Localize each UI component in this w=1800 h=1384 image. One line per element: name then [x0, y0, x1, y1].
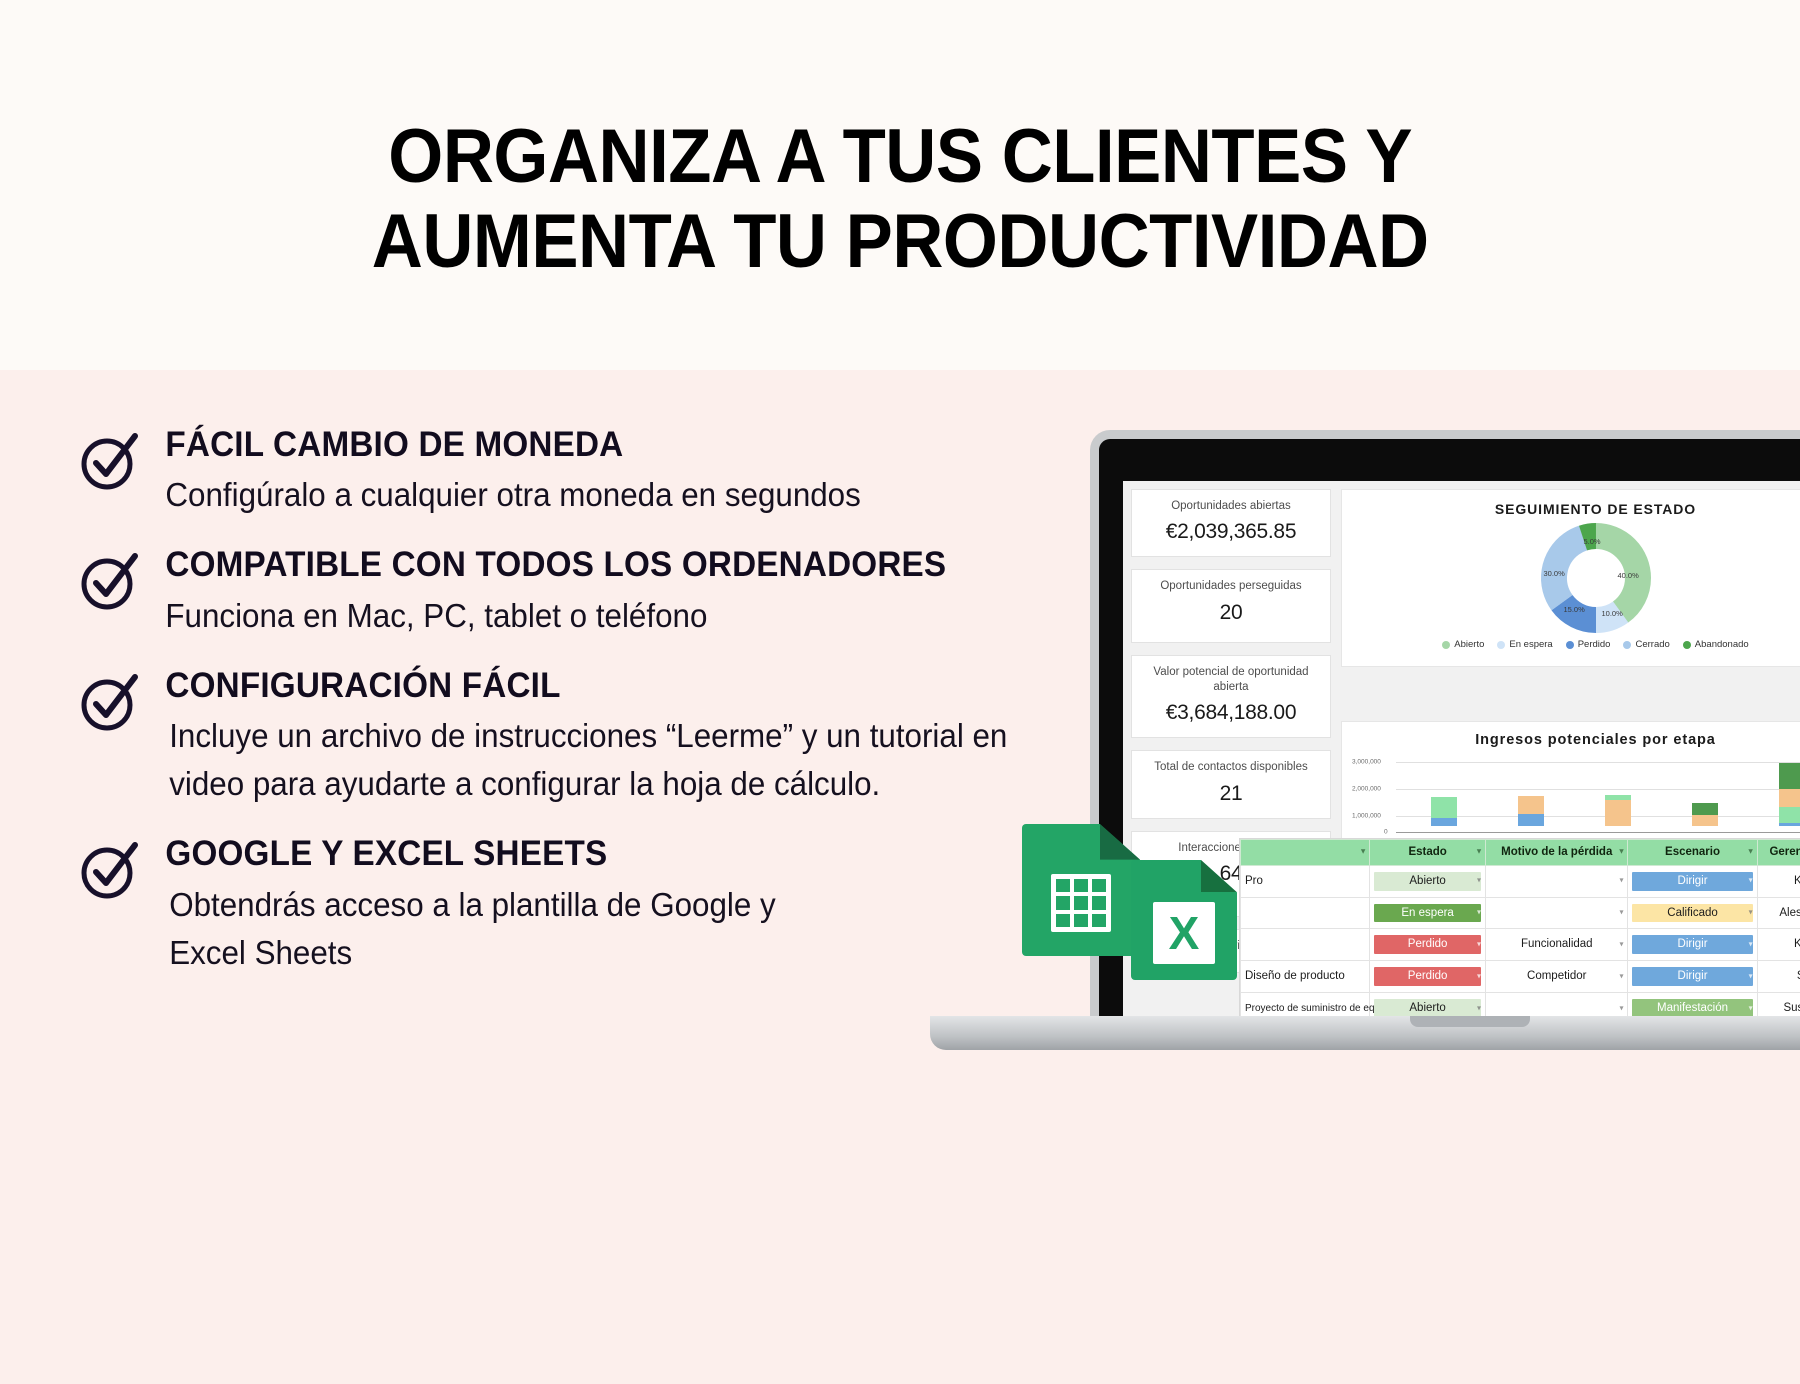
axis-line [1396, 832, 1800, 833]
dropdown-arrow-icon[interactable]: ▾ [1749, 908, 1753, 917]
kpi-value: €3,684,188.00 [1138, 701, 1324, 725]
donut-chart: 40.0% 10.0% 15.0% 30.0% 5.0% [1530, 519, 1662, 637]
laptop-notch [1410, 1016, 1530, 1027]
feature-title: CONFIGURACIÓN FÁCIL [78, 666, 1038, 706]
header-band: ORGANIZA A TUS CLIENTES Y AUMENTA TU PRO… [0, 0, 1800, 370]
donut-legend: Abierto En espera Perdido Cerrado Abando… [1348, 639, 1800, 650]
page-title-line-1: ORGANIZA A TUS CLIENTES Y [372, 114, 1429, 199]
kpi-label: Valor potencial de oportunidad abierta [1138, 665, 1324, 694]
scenario-badge: Calificado [1632, 904, 1752, 923]
dropdown-arrow-icon[interactable]: ▾ [1477, 1004, 1481, 1013]
cell-gerente[interactable]: Alessia Mccarthy [1757, 897, 1800, 929]
dropdown-arrow-icon[interactable]: ▾ [1619, 940, 1623, 949]
feature-description: Funciona en Mac, PC, tablet o teléfono [78, 592, 1038, 640]
feature-item-compatibility: COMPATIBLE CON TODOS LOS ORDENADORES Fun… [78, 545, 1088, 639]
table-row[interactable]: En espera▾ ▾ Calificado▾ Alessia Mccarth… [1241, 897, 1800, 929]
sheets-grid-icon [1022, 866, 1140, 940]
cell-motivo[interactable]: Funcionalidad▾ [1486, 929, 1628, 961]
legend-swatch [1442, 641, 1450, 649]
legend-label: Abierto [1454, 639, 1484, 650]
excel-badge[interactable]: X [1131, 860, 1237, 980]
kpi-card-open-opportunities: Oportunidades abiertas €2,039,365.85 [1131, 489, 1331, 557]
cell-escenario[interactable]: Dirigir▾ [1628, 929, 1757, 961]
page-title-line-2: AUMENTA TU PRODUCTIVIDAD [372, 199, 1429, 284]
kpi-value: 21 [1138, 782, 1324, 806]
legend-item-en-espera: En espera [1497, 639, 1552, 650]
table-header-row: .▾ Estado▾ Motivo de la pérdida▾ Escenar… [1241, 839, 1800, 865]
filter-icon[interactable]: ▾ [1619, 848, 1623, 857]
bar-segment-blue [1431, 818, 1457, 826]
column-label: Motivo de la pérdida [1501, 846, 1612, 858]
google-sheets-badge[interactable] [1022, 824, 1140, 956]
column-header-gerente[interactable]: Gerente de cuentas▾ [1757, 839, 1800, 865]
dropdown-arrow-icon[interactable]: ▾ [1619, 972, 1623, 981]
kpi-card-open-opportunity-value: Valor potencial de oportunidad abierta €… [1131, 655, 1331, 738]
excel-letter: X [1169, 910, 1200, 956]
feature-description: Obtendrás acceso a la plantilla de Googl… [78, 881, 777, 977]
table-row[interactable]: Diseño de producto Perdido▾ Competidor▾ … [1241, 961, 1800, 993]
dropdown-arrow-icon[interactable]: ▾ [1749, 940, 1753, 949]
status-tracking-chart: SEGUIMIENTO DE ESTADO [1341, 489, 1800, 667]
status-badge: En espera [1374, 904, 1481, 923]
filter-icon[interactable]: ▾ [1361, 848, 1365, 857]
cell-escenario[interactable]: Dirigir▾ [1628, 865, 1757, 897]
cell-motivo[interactable]: ▾ [1486, 897, 1628, 929]
dropdown-arrow-icon[interactable]: ▾ [1477, 877, 1481, 886]
bar-segment-orange [1605, 800, 1631, 826]
column-header-escenario[interactable]: Escenario▾ [1628, 839, 1757, 865]
legend-item-perdido: Perdido [1566, 639, 1611, 650]
bar-segment-orange [1518, 796, 1544, 814]
bar-plot: 3,000,000 2,000,000 1,000,000 0 [1352, 756, 1800, 848]
kpi-card-total-contacts: Total de contactos disponibles 21 [1131, 750, 1331, 818]
legend-label: Cerrado [1635, 639, 1669, 650]
feature-item-currency: FÁCIL CAMBIO DE MONEDA Configúralo a cua… [78, 425, 1088, 519]
bar-column [1692, 803, 1718, 826]
status-badge: Abierto [1374, 872, 1481, 891]
dropdown-arrow-icon[interactable]: ▾ [1619, 908, 1623, 917]
filter-icon[interactable]: ▾ [1477, 848, 1481, 857]
dropdown-arrow-icon[interactable]: ▾ [1477, 940, 1481, 949]
bar-segment-orange [1692, 815, 1718, 826]
kpi-label: Oportunidades perseguidas [1138, 579, 1324, 593]
chart-gap [1341, 679, 1800, 709]
feature-item-google-excel: GOOGLE Y EXCEL SHEETS Obtendrás acceso a… [78, 834, 1088, 977]
filter-icon[interactable]: ▾ [1749, 848, 1753, 857]
bar-segment-orange [1779, 789, 1800, 807]
legend-swatch [1566, 641, 1574, 649]
legend-item-cerrado: Cerrado [1623, 639, 1669, 650]
dropdown-arrow-icon[interactable]: ▾ [1749, 1004, 1753, 1013]
cell-estado[interactable]: Abierto▾ [1370, 865, 1486, 897]
chart-title: Ingresos potenciales por etapa [1348, 732, 1800, 748]
cell-name[interactable] [1241, 929, 1370, 961]
bar-segment-light-green [1779, 807, 1800, 823]
legend-label: En espera [1509, 639, 1552, 650]
donut-value-cerrado: 30.0% [1544, 569, 1565, 578]
column-label: Estado [1408, 846, 1446, 858]
excel-fold [1201, 860, 1237, 892]
status-badge: Perdido [1374, 967, 1481, 986]
column-label: Gerente de cuentas [1769, 846, 1800, 858]
cell-name[interactable]: Diseño de producto [1241, 961, 1370, 993]
donut-value-en-espera: 10.0% [1602, 609, 1623, 618]
status-badge: Perdido [1374, 935, 1481, 954]
legend-label: Abandonado [1695, 639, 1749, 650]
kpi-label: Oportunidades abiertas [1138, 499, 1324, 513]
column-header-name[interactable]: .▾ [1241, 839, 1370, 865]
dropdown-arrow-icon[interactable]: ▾ [1477, 908, 1481, 917]
bar-column [1605, 795, 1631, 826]
bar-column [1518, 796, 1544, 826]
column-header-motivo[interactable]: Motivo de la pérdida▾ [1486, 839, 1628, 865]
y-tick-3: 3,000,000 [1352, 759, 1381, 766]
legend-swatch [1623, 641, 1631, 649]
donut-value-abierto: 40.0% [1618, 571, 1639, 580]
dropdown-arrow-icon[interactable]: ▾ [1749, 972, 1753, 981]
dropdown-arrow-icon[interactable]: ▾ [1619, 1004, 1623, 1013]
dropdown-arrow-icon[interactable]: ▾ [1749, 877, 1753, 886]
donut-value-perdido: 15.0% [1564, 605, 1585, 614]
cell-estado[interactable]: Perdido▾ [1370, 961, 1486, 993]
opportunities-table[interactable]: .▾ Estado▾ Motivo de la pérdida▾ Escenar… [1239, 838, 1800, 1020]
cell-estado[interactable]: En espera▾ [1370, 897, 1486, 929]
kpi-label: Total de contactos disponibles [1138, 760, 1324, 774]
scenario-badge: Dirigir [1632, 935, 1752, 954]
feature-item-setup: CONFIGURACIÓN FÁCIL Incluye un archivo d… [78, 666, 1088, 809]
feature-list: FÁCIL CAMBIO DE MONEDA Configúralo a cua… [78, 425, 1088, 1003]
cell-gerente[interactable]: Kiran Short [1757, 929, 1800, 961]
donut-value-abandonado: 5.0% [1584, 537, 1601, 546]
bar-group [1400, 756, 1800, 826]
dropdown-arrow-icon[interactable]: ▾ [1477, 972, 1481, 981]
cell-gerente[interactable]: Saúl Lang [1757, 961, 1800, 993]
page-title: ORGANIZA A TUS CLIENTES Y AUMENTA TU PRO… [372, 114, 1429, 284]
kpi-value: 20 [1138, 601, 1324, 625]
chart-title: SEGUIMIENTO DE ESTADO [1348, 501, 1800, 517]
dropdown-arrow-icon[interactable]: ▾ [1619, 877, 1623, 886]
cell-gerente[interactable]: Kiran Short [1757, 865, 1800, 897]
y-tick-2: 2,000,000 [1352, 786, 1381, 793]
legend-label: Perdido [1578, 639, 1611, 650]
table-row[interactable]: Pro Abierto▾ ▾ Dirigir▾ Kiran Short [1241, 865, 1800, 897]
cell-escenario[interactable]: Dirigir▾ [1628, 961, 1757, 993]
feature-description: Incluye un archivo de instrucciones “Lee… [78, 712, 1038, 808]
bar-segment-dark-green [1692, 803, 1718, 815]
cell-estado[interactable]: Perdido▾ [1370, 929, 1486, 961]
scenario-badge: Dirigir [1632, 967, 1752, 986]
cell-name[interactable] [1241, 897, 1370, 929]
feature-description: Configúralo a cualquier otra moneda en s… [78, 471, 1038, 519]
bar-column [1779, 763, 1800, 826]
bar-column [1431, 797, 1457, 826]
sheets-fold [1100, 824, 1140, 860]
feature-title: COMPATIBLE CON TODOS LOS ORDENADORES [78, 545, 1038, 585]
laptop-base [930, 1016, 1800, 1050]
kpi-value: €2,039,365.85 [1138, 520, 1324, 544]
feature-title: FÁCIL CAMBIO DE MONEDA [78, 425, 1038, 465]
kpi-card-pursued-opportunities: Oportunidades perseguidas 20 [1131, 569, 1331, 643]
bar-segment-blue [1518, 814, 1544, 826]
table-row[interactable]: Perdido▾ Funcionalidad▾ Dirigir▾ Kiran S… [1241, 929, 1800, 961]
cell-motivo[interactable]: Competidor▾ [1486, 961, 1628, 993]
bar-segment-dark-green [1779, 763, 1800, 789]
legend-item-abandonado: Abandonado [1683, 639, 1749, 650]
cell-motivo[interactable]: ▾ [1486, 865, 1628, 897]
bar-segment-light-green [1431, 797, 1457, 818]
cell-escenario[interactable]: Calificado▾ [1628, 897, 1757, 929]
legend-swatch [1497, 641, 1505, 649]
column-header-estado[interactable]: Estado▾ [1370, 839, 1486, 865]
legend-swatch [1683, 641, 1691, 649]
y-tick-0: 0 [1384, 829, 1388, 836]
y-tick-1: 1,000,000 [1352, 813, 1381, 820]
cell-name[interactable]: Pro [1241, 865, 1370, 897]
legend-item-abierto: Abierto [1442, 639, 1484, 650]
scenario-badge: Dirigir [1632, 872, 1752, 891]
excel-x-icon: X [1131, 902, 1237, 964]
feature-title: GOOGLE Y EXCEL SHEETS [78, 834, 1038, 874]
bar-segment-blue [1779, 823, 1800, 826]
column-label: Escenario [1665, 846, 1720, 858]
